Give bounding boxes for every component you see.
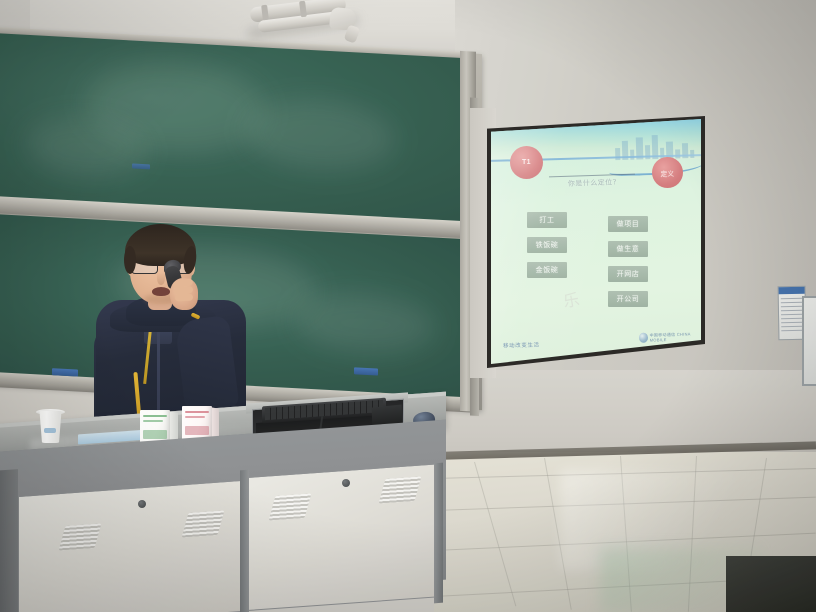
box-print-line [185, 416, 205, 418]
paper-cup[interactable] [38, 411, 63, 443]
chalk-eraser[interactable] [354, 367, 378, 375]
slide-box-right-1: 做项目 [608, 216, 648, 232]
paper-cup-logo [44, 428, 56, 433]
projector-screen[interactable]: T1 定义 你是什么定位？ 打工 铁饭碗 金饭碗 做项目 做生意 开网店 开公司… [491, 119, 701, 364]
slide-badge-left: T1 [510, 146, 543, 179]
cabinet-door-left[interactable] [18, 480, 242, 612]
slide-logo-text: 中国移动通信 CHINA MOBILE [650, 331, 701, 342]
notice-header [779, 287, 805, 294]
wall-whiteboard [802, 296, 816, 386]
cabinet-divider-post [240, 470, 249, 612]
presenter-mouth [152, 287, 170, 296]
presenter-nose [157, 272, 165, 285]
slide-box-right-4: 开公司 [608, 291, 648, 307]
presenter-right-arm [175, 315, 240, 413]
cabinet-right-post [434, 463, 443, 604]
slide-box-left-1: 打工 [527, 212, 567, 228]
cabinet-lock[interactable] [138, 500, 146, 508]
blackboard-upper-panel [0, 33, 474, 223]
box-print-line [143, 420, 163, 422]
chalk-eraser[interactable] [132, 163, 150, 169]
slide-box-left-3: 金饭碗 [527, 262, 567, 278]
china-mobile-logo-icon [639, 333, 648, 343]
classroom-photo: T1 定义 你是什么定位？ 打工 铁饭碗 金饭碗 做项目 做生意 开网店 开公司… [0, 0, 816, 612]
slide-footer-text: 移动改变生活 [503, 340, 540, 349]
box-print-block [185, 426, 209, 435]
box-print-line [143, 415, 167, 417]
cabinet-lock[interactable] [342, 479, 350, 487]
presenter [96, 222, 246, 434]
slide-title: 你是什么定位？ [546, 176, 642, 189]
chalk-eraser[interactable] [52, 368, 78, 376]
slide-box-right-3: 开网店 [608, 266, 648, 282]
cabinet-left-side [0, 469, 18, 612]
slide-watermark: 乐 [561, 286, 581, 312]
slide-box-left-2: 铁饭碗 [527, 237, 567, 253]
slide-box-right-2: 做生意 [608, 241, 648, 257]
presenter-hair-side [124, 246, 136, 274]
presenter-finger [175, 294, 193, 302]
floor-dark-area [726, 556, 816, 612]
box-print-block [143, 430, 167, 439]
slide-badge-right: 定义 [652, 157, 683, 188]
presentation-slide: T1 定义 你是什么定位？ 打工 铁饭碗 金饭碗 做项目 做生意 开网店 开公司… [491, 119, 701, 364]
box-print-line [185, 411, 209, 413]
